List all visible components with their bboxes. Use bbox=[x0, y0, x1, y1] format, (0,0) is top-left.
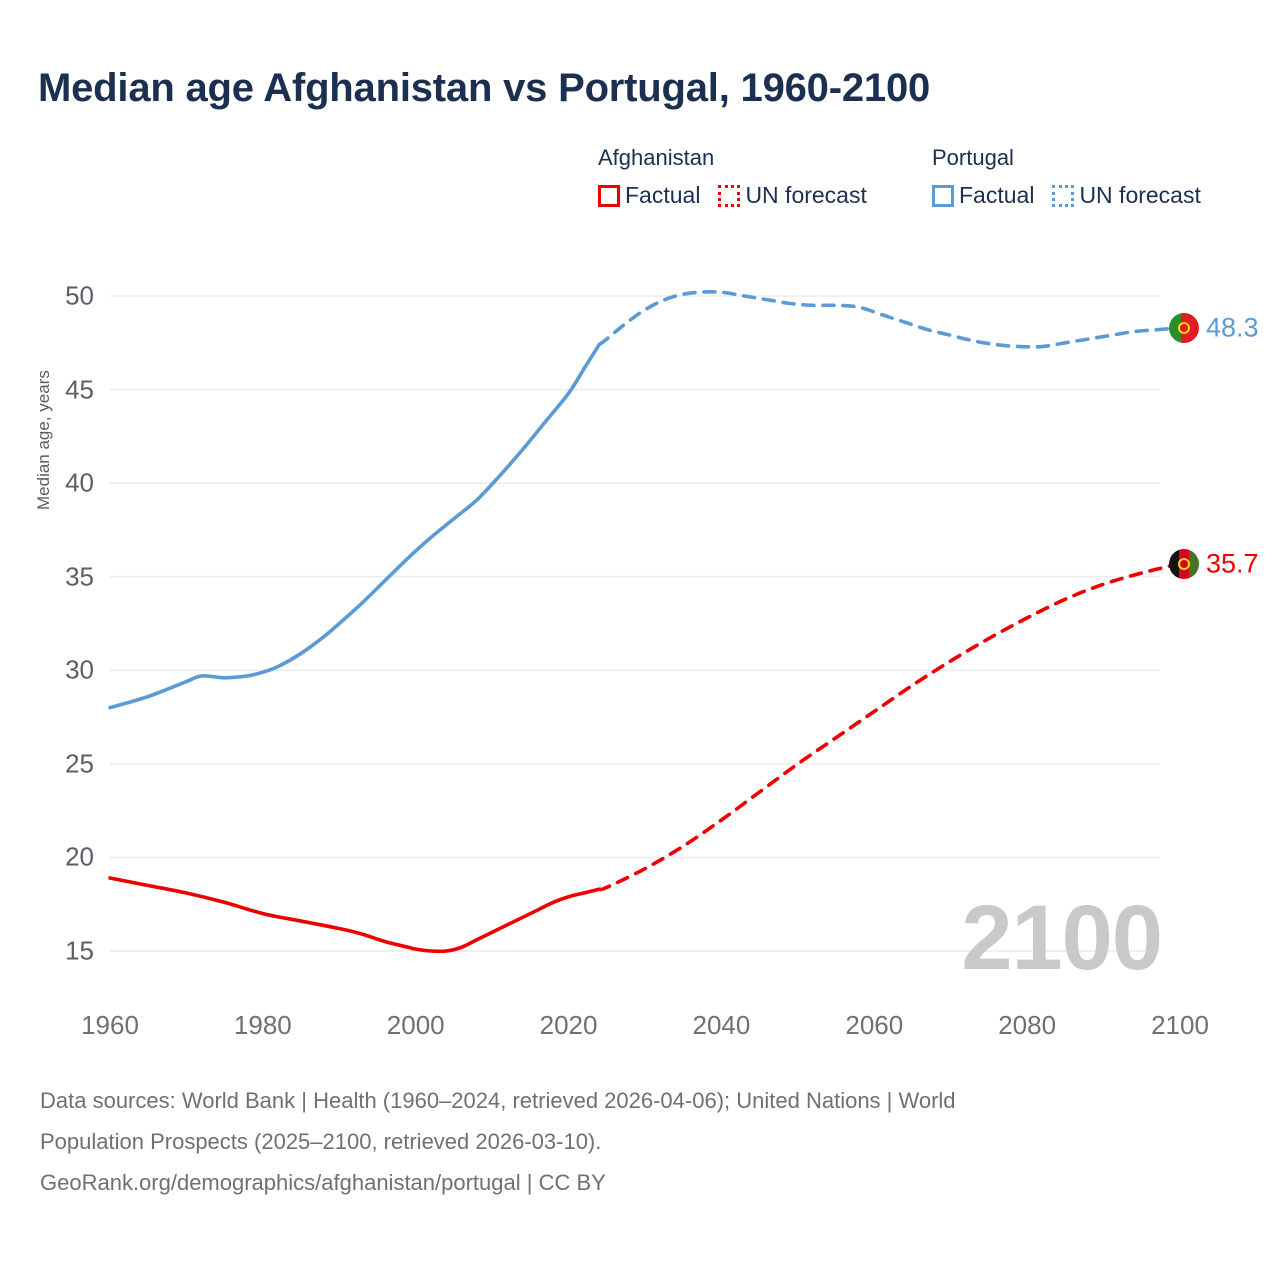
afghanistan-flag-icon bbox=[1169, 549, 1199, 579]
plot-area: Median age, years 1520253035404550 19601… bbox=[0, 0, 1280, 1060]
portugal-flag-icon bbox=[1169, 313, 1199, 343]
afghanistan-end-label: 35.7 bbox=[1206, 548, 1259, 579]
chart-root: Median age Afghanistan vs Portugal, 1960… bbox=[0, 0, 1280, 1280]
series-line-portugal-forecast bbox=[599, 292, 1180, 347]
series-line-portugal-factual bbox=[110, 345, 599, 708]
series-line-afghanistan-forecast bbox=[599, 564, 1180, 890]
footer-line-1: Data sources: World Bank | Health (1960–… bbox=[40, 1084, 1220, 1117]
footer-sources: Data sources: World Bank | Health (1960–… bbox=[40, 1084, 1220, 1199]
footer-line-3[interactable]: GeoRank.org/demographics/afghanistan/por… bbox=[40, 1166, 1220, 1199]
portugal-end-label: 48.3 bbox=[1206, 312, 1259, 343]
series-line-afghanistan-factual bbox=[110, 878, 599, 951]
footer-line-2: Population Prospects (2025–2100, retriev… bbox=[40, 1125, 1220, 1158]
year-watermark: 2100 bbox=[961, 892, 1162, 984]
